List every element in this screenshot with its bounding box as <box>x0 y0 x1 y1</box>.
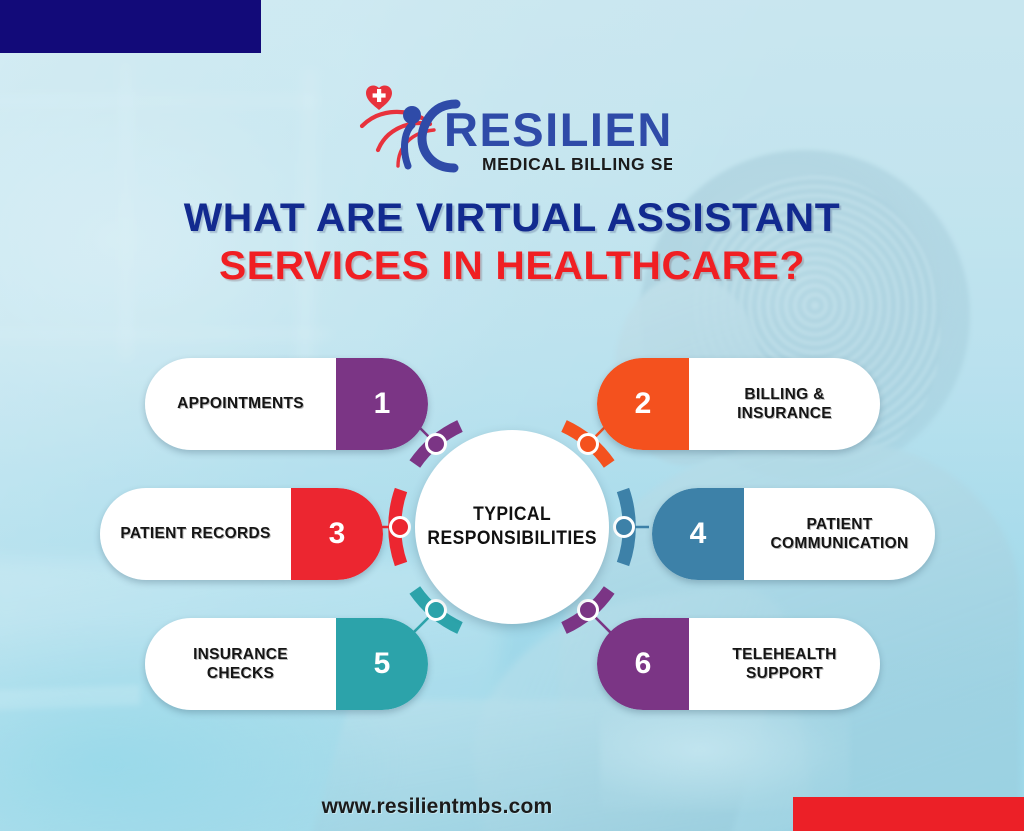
hub-label-line-2: RESPONSIBILITIES <box>427 527 597 551</box>
ring-node-2 <box>579 435 598 454</box>
ring-node-3 <box>391 518 410 537</box>
navy-corner-block <box>0 0 261 53</box>
item-1-label-line-1: APPOINTMENTS <box>177 394 304 413</box>
hub-label: TYPICAL RESPONSIBILITIES <box>427 503 597 551</box>
hub-label-line-1: TYPICAL <box>427 503 597 527</box>
item-3-label-line-1: PATIENT RECORDS <box>120 524 270 543</box>
ring-node-5 <box>427 601 446 620</box>
responsibility-item-2[interactable]: 2 BILLING & INSURANCE <box>597 358 880 450</box>
responsibility-item-6[interactable]: 6 TELEHEALTH SUPPORT <box>597 618 880 710</box>
item-6-label-line-2: SUPPORT <box>746 665 823 682</box>
item-2-label: BILLING & INSURANCE <box>689 358 880 450</box>
person-head-icon <box>403 106 421 124</box>
logo-tagline: MEDICAL BILLING SERVICES <box>482 154 672 174</box>
item-3-label: PATIENT RECORDS <box>100 488 291 580</box>
footer-website-text: www.resilientmbs.com <box>322 795 553 819</box>
item-5-label-line-1: INSURANCE <box>193 646 288 663</box>
ring-node-4 <box>615 518 634 537</box>
responsibility-item-5[interactable]: INSURANCE CHECKS 5 <box>145 618 428 710</box>
ring-node-1 <box>427 435 446 454</box>
person-body-icon <box>405 125 412 166</box>
footer-website[interactable]: www.resilientmbs.com <box>0 795 1024 819</box>
responsibility-item-3[interactable]: PATIENT RECORDS 3 <box>100 488 383 580</box>
item-4-label-line-1: PATIENT <box>806 516 872 533</box>
ring-node-6 <box>579 601 598 620</box>
item-3-number: 3 <box>291 488 383 580</box>
item-5-label: INSURANCE CHECKS <box>145 618 336 710</box>
logo-graphic: RESILIENT MEDICAL BILLING SERVICES <box>352 80 672 180</box>
heart-cross-icon <box>366 86 392 110</box>
item-6-number: 6 <box>597 618 689 710</box>
brand-logo: RESILIENT MEDICAL BILLING SERVICES <box>352 80 672 180</box>
item-4-label: PATIENT COMMUNICATION <box>744 488 935 580</box>
page-title: WHAT ARE VIRTUAL ASSISTANT SERVICES IN H… <box>0 198 1024 287</box>
headline-line-2: SERVICES IN HEALTHCARE? <box>0 246 1024 288</box>
infographic-canvas: RESILIENT MEDICAL BILLING SERVICES WHAT … <box>0 0 1024 831</box>
item-4-label-line-2: COMMUNICATION <box>771 535 909 552</box>
item-5-number: 5 <box>336 618 428 710</box>
responsibility-item-4[interactable]: 4 PATIENT COMMUNICATION <box>652 488 935 580</box>
item-5-label-line-2: CHECKS <box>207 665 274 682</box>
item-2-number: 2 <box>597 358 689 450</box>
logo-wordmark: RESILIENT <box>444 103 672 156</box>
responsibility-item-1[interactable]: APPOINTMENTS 1 <box>145 358 428 450</box>
item-6-label-line-1: TELEHEALTH <box>732 646 836 663</box>
diagram-hub: TYPICAL RESPONSIBILITIES <box>415 430 609 624</box>
item-2-label-line-2: INSURANCE <box>737 405 832 422</box>
item-2-label-line-1: BILLING & <box>744 386 824 403</box>
headline-line-1: WHAT ARE VIRTUAL ASSISTANT <box>0 198 1024 240</box>
item-4-number: 4 <box>652 488 744 580</box>
item-1-label: APPOINTMENTS <box>145 358 336 450</box>
item-6-label: TELEHEALTH SUPPORT <box>689 618 880 710</box>
item-1-number: 1 <box>336 358 428 450</box>
